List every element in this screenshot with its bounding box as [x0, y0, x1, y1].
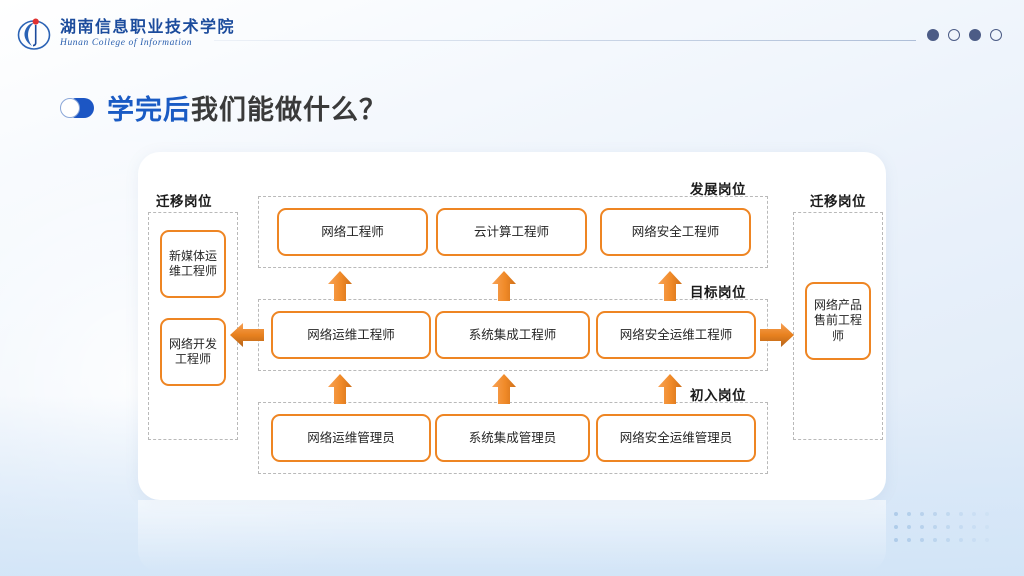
header-dot-3	[969, 29, 981, 41]
dot-grid-decoration	[894, 512, 998, 554]
toggle-circle-icon	[60, 98, 94, 118]
label-target: 目标岗位	[690, 281, 746, 301]
label-development: 发展岗位	[690, 178, 746, 198]
page-title-rest: 我们能做什么？	[191, 95, 387, 126]
header-dot-2	[948, 29, 960, 41]
job-box-entry-3[interactable]: 网络安全运维管理员	[596, 414, 756, 462]
job-box-development-3[interactable]: 网络安全工程师	[600, 208, 751, 256]
arrow-up-icon-entry-2	[491, 374, 517, 404]
arrow-up-icon-target-3	[657, 271, 683, 301]
arrow-up-icon-target-1	[327, 271, 353, 301]
slide-title: 学完后我们能做什么？	[60, 88, 387, 127]
card-bottom-fade	[138, 500, 886, 572]
job-box-target-2[interactable]: 系统集成工程师	[435, 311, 590, 359]
job-box-development-2[interactable]: 云计算工程师	[436, 208, 587, 256]
university-crest-icon	[14, 14, 54, 54]
job-box-entry-2[interactable]: 系统集成管理员	[435, 414, 590, 462]
institution-logo: 湖南信息职业技术学院 Hunan College of Information	[14, 14, 235, 54]
logo-chinese-name: 湖南信息职业技术学院	[60, 19, 235, 35]
job-box-target-3[interactable]: 网络安全运维工程师	[596, 311, 756, 359]
header-dot-1	[927, 29, 939, 41]
label-left-migration: 迁移岗位	[156, 190, 212, 210]
job-box-target-1[interactable]: 网络运维工程师	[271, 311, 431, 359]
page-header: 湖南信息职业技术学院 Hunan College of Information	[0, 0, 1024, 62]
label-entry: 初入岗位	[690, 384, 746, 404]
job-box-right-1[interactable]: 网络产品售前工程师	[805, 282, 871, 360]
job-box-development-1[interactable]: 网络工程师	[277, 208, 428, 256]
label-right-migration: 迁移岗位	[810, 190, 866, 210]
arrow-up-icon-entry-3	[657, 374, 683, 404]
arrow-left-icon	[230, 322, 264, 348]
career-path-diagram-card: 迁移岗位 迁移岗位 发展岗位 目标岗位 初入岗位 新媒体运维工程师 网络开发工程…	[138, 152, 886, 500]
job-box-left-2[interactable]: 网络开发工程师	[160, 318, 226, 386]
job-box-left-1[interactable]: 新媒体运维工程师	[160, 230, 226, 298]
header-divider	[214, 40, 916, 41]
arrow-right-icon	[760, 322, 794, 348]
header-dot-indicators	[927, 29, 1002, 41]
logo-english-name: Hunan College of Information	[60, 39, 235, 49]
job-box-entry-1[interactable]: 网络运维管理员	[271, 414, 431, 462]
arrow-up-icon-entry-1	[327, 374, 353, 404]
header-dot-4	[990, 29, 1002, 41]
page-title-highlight: 学完后	[107, 95, 191, 126]
arrow-up-icon-target-2	[491, 271, 517, 301]
